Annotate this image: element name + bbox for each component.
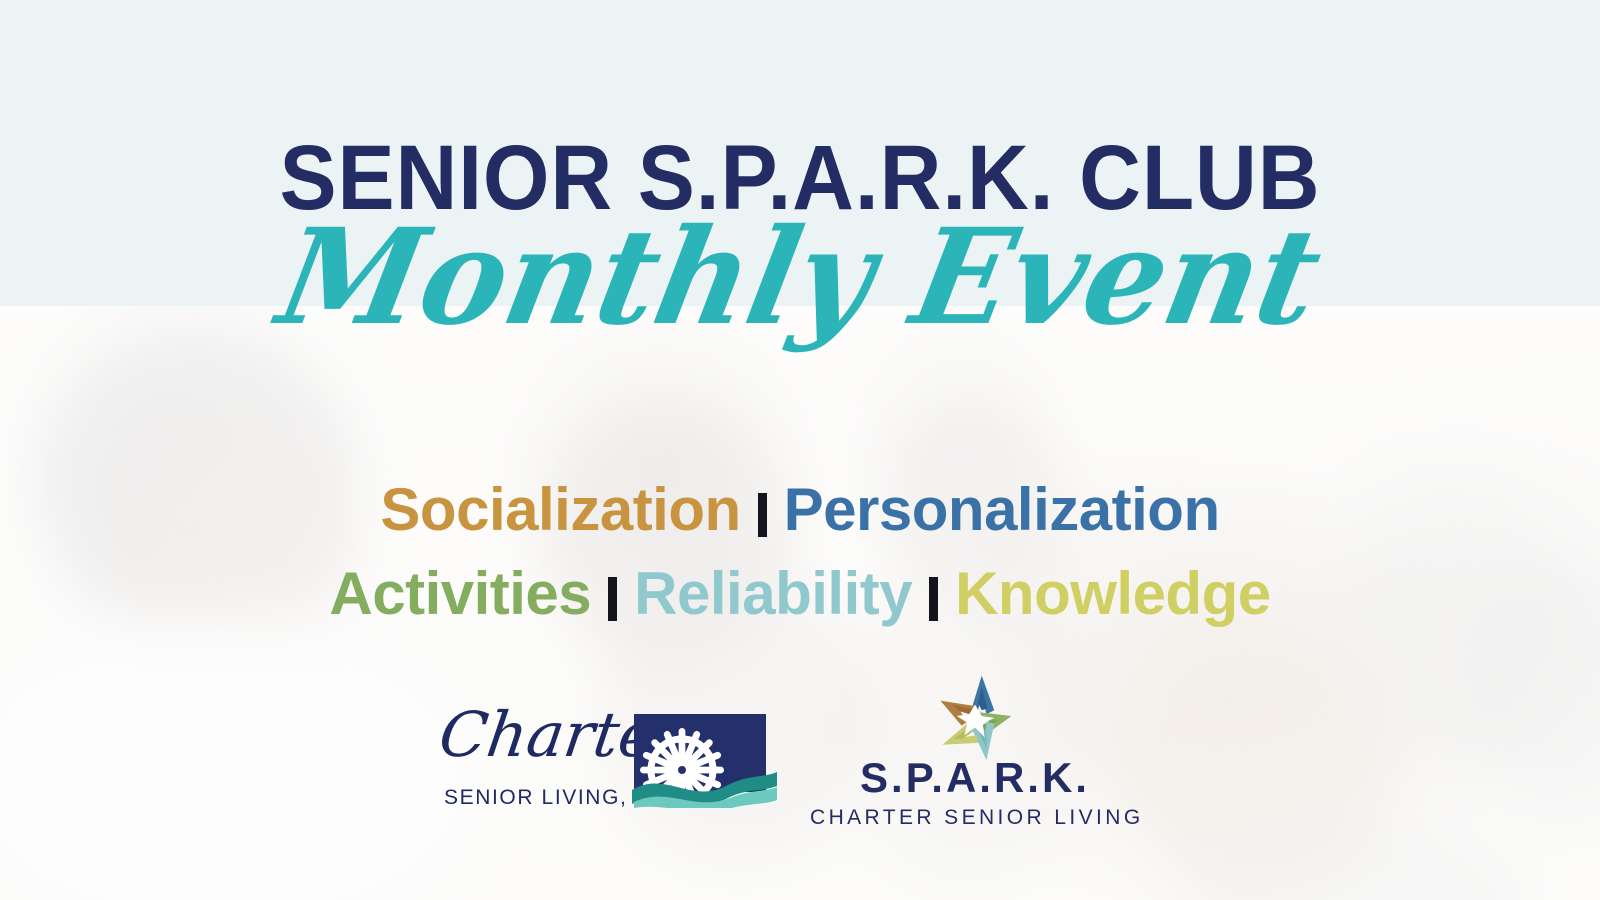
subtitle-script: Monthly Event	[19, 212, 1581, 344]
pillar-reliability: Reliability	[634, 560, 912, 627]
pillar-socialization: Socialization	[380, 476, 740, 543]
ships-wheel-icon	[630, 708, 778, 808]
poster-canvas: SENIOR S.P.A.R.K. CLUB Monthly Event Soc…	[0, 0, 1600, 900]
spark-wordmark: S.P.A.R.K.	[810, 754, 1140, 802]
charter-wordmark: Charter	[436, 704, 635, 766]
pillar-activities: Activities	[329, 560, 591, 627]
pillar-separator	[608, 577, 617, 621]
pillar-separator	[758, 493, 767, 537]
spark-logo: S.P.A.R.K. CHARTER SENIOR LIVING	[810, 666, 1140, 826]
pillar-line-one: SocializationPersonalization	[0, 468, 1600, 552]
logo-row: Charter SENIOR LIVING, LLC	[0, 666, 1600, 836]
pillar-personalization: Personalization	[784, 476, 1220, 543]
charter-senior-living-logo: Charter SENIOR LIVING, LLC	[440, 698, 780, 823]
pillar-knowledge: Knowledge	[955, 560, 1271, 627]
spark-tagline: CHARTER SENIOR LIVING	[810, 806, 1140, 830]
spark-pillars: SocializationPersonalization ActivitiesR…	[0, 468, 1600, 636]
pillar-line-two: ActivitiesReliabilityKnowledge	[0, 552, 1600, 636]
five-point-star-icon	[927, 668, 1023, 764]
pillar-separator	[929, 577, 938, 621]
